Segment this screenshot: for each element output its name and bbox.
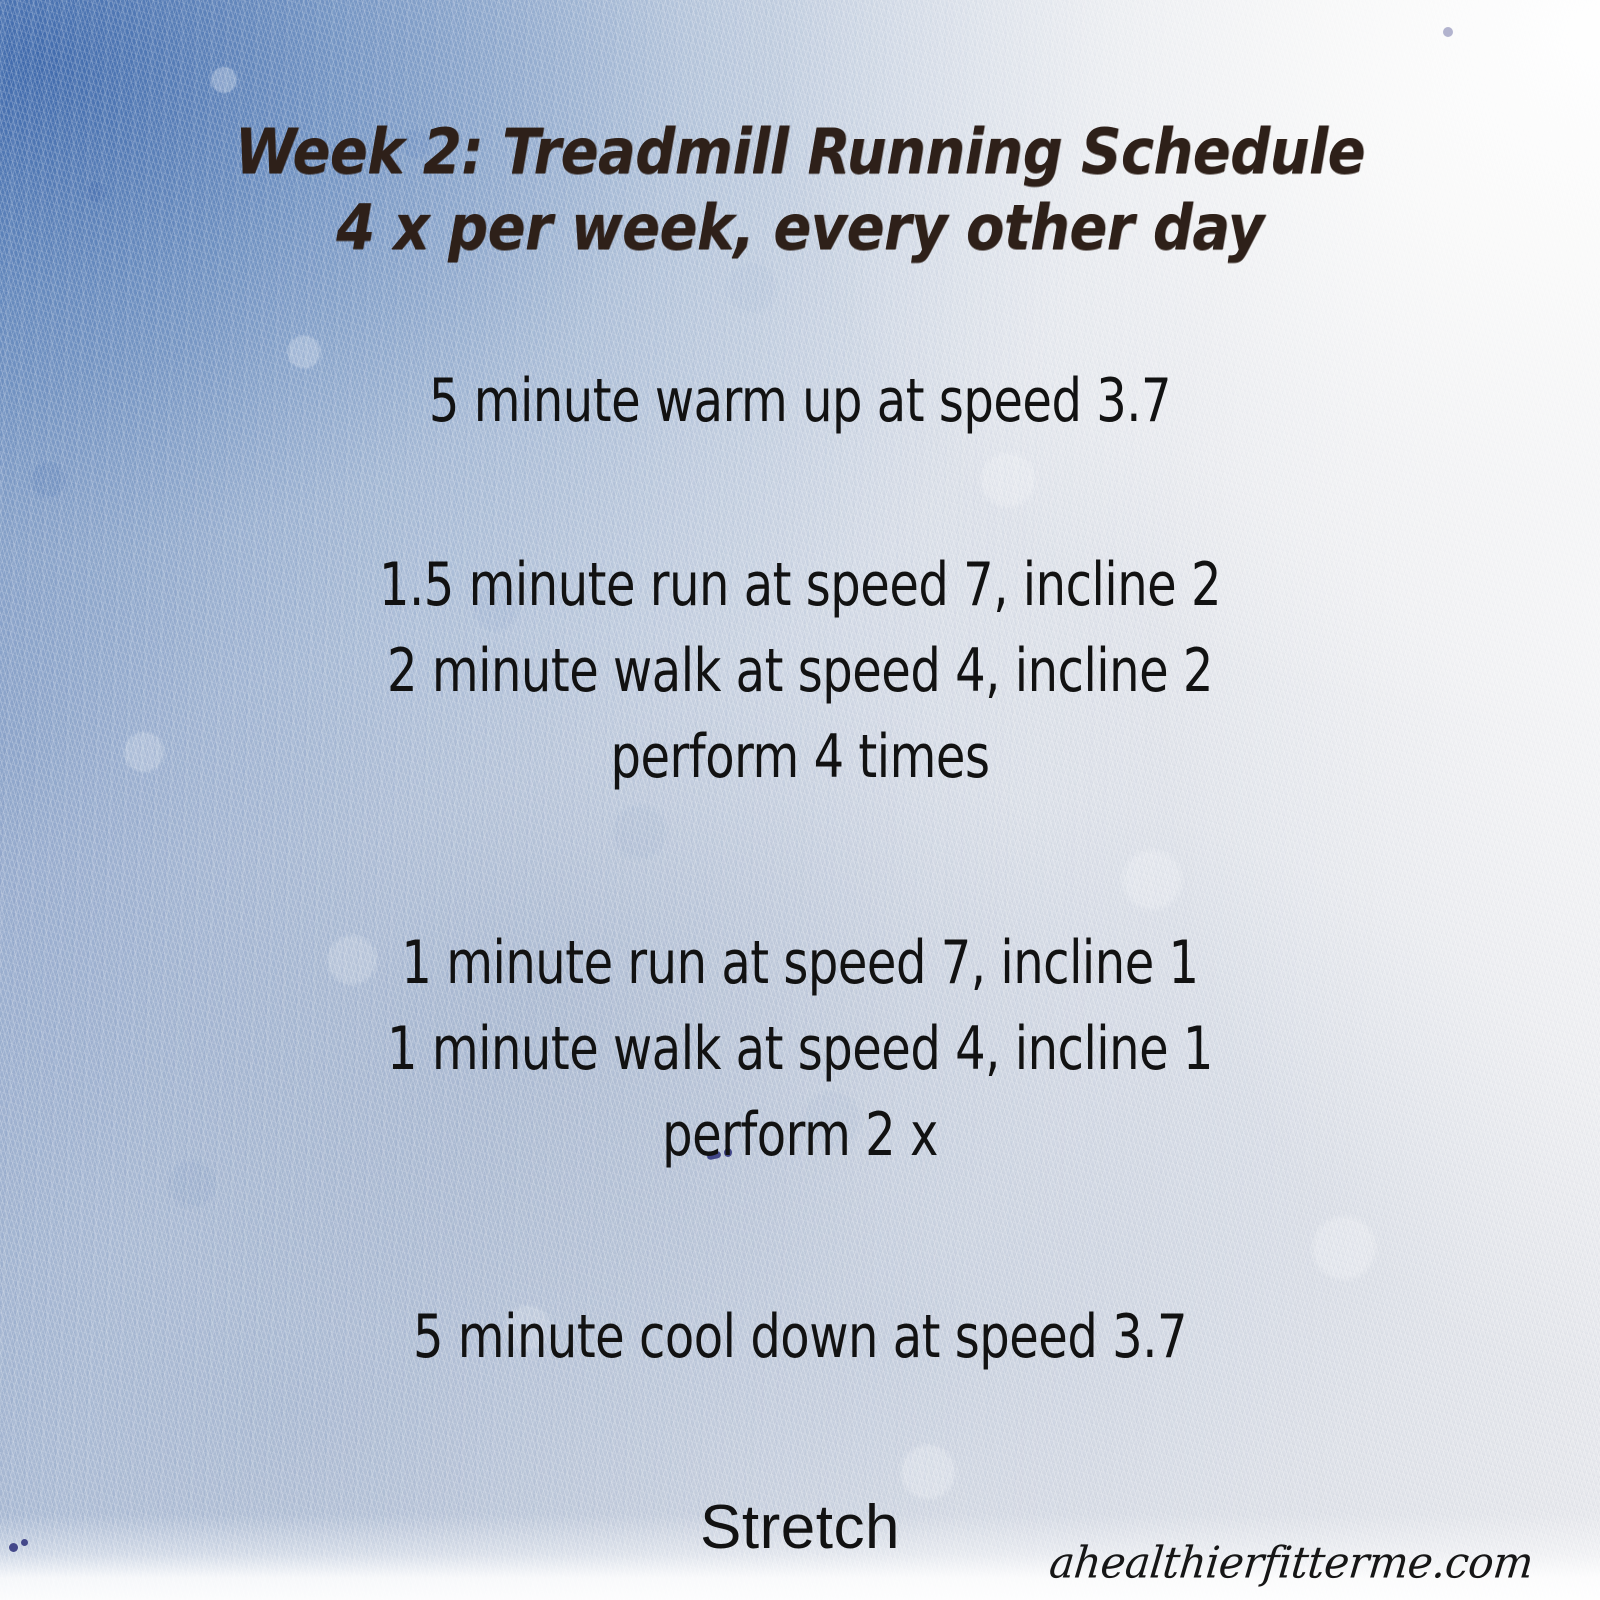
interval-set-two-text: 1 minute run at speed 7, incline 1 1 min…	[160, 920, 1440, 1178]
cool-down-text: 5 minute cool down at speed 3.7	[160, 1294, 1440, 1380]
poster-canvas: Week 2: Treadmill Running Schedule 4 x p…	[0, 0, 1600, 1600]
warm-up-text: 5 minute warm up at speed 3.7	[160, 358, 1440, 444]
page-title: Week 2: Treadmill Running Schedule 4 x p…	[80, 114, 1520, 266]
site-watermark: ahealthierfitterme.com	[1047, 1538, 1535, 1588]
poster-content: Week 2: Treadmill Running Schedule 4 x p…	[0, 0, 1600, 1600]
interval-set-one-text: 1.5 minute run at speed 7, incline 2 2 m…	[160, 542, 1440, 800]
